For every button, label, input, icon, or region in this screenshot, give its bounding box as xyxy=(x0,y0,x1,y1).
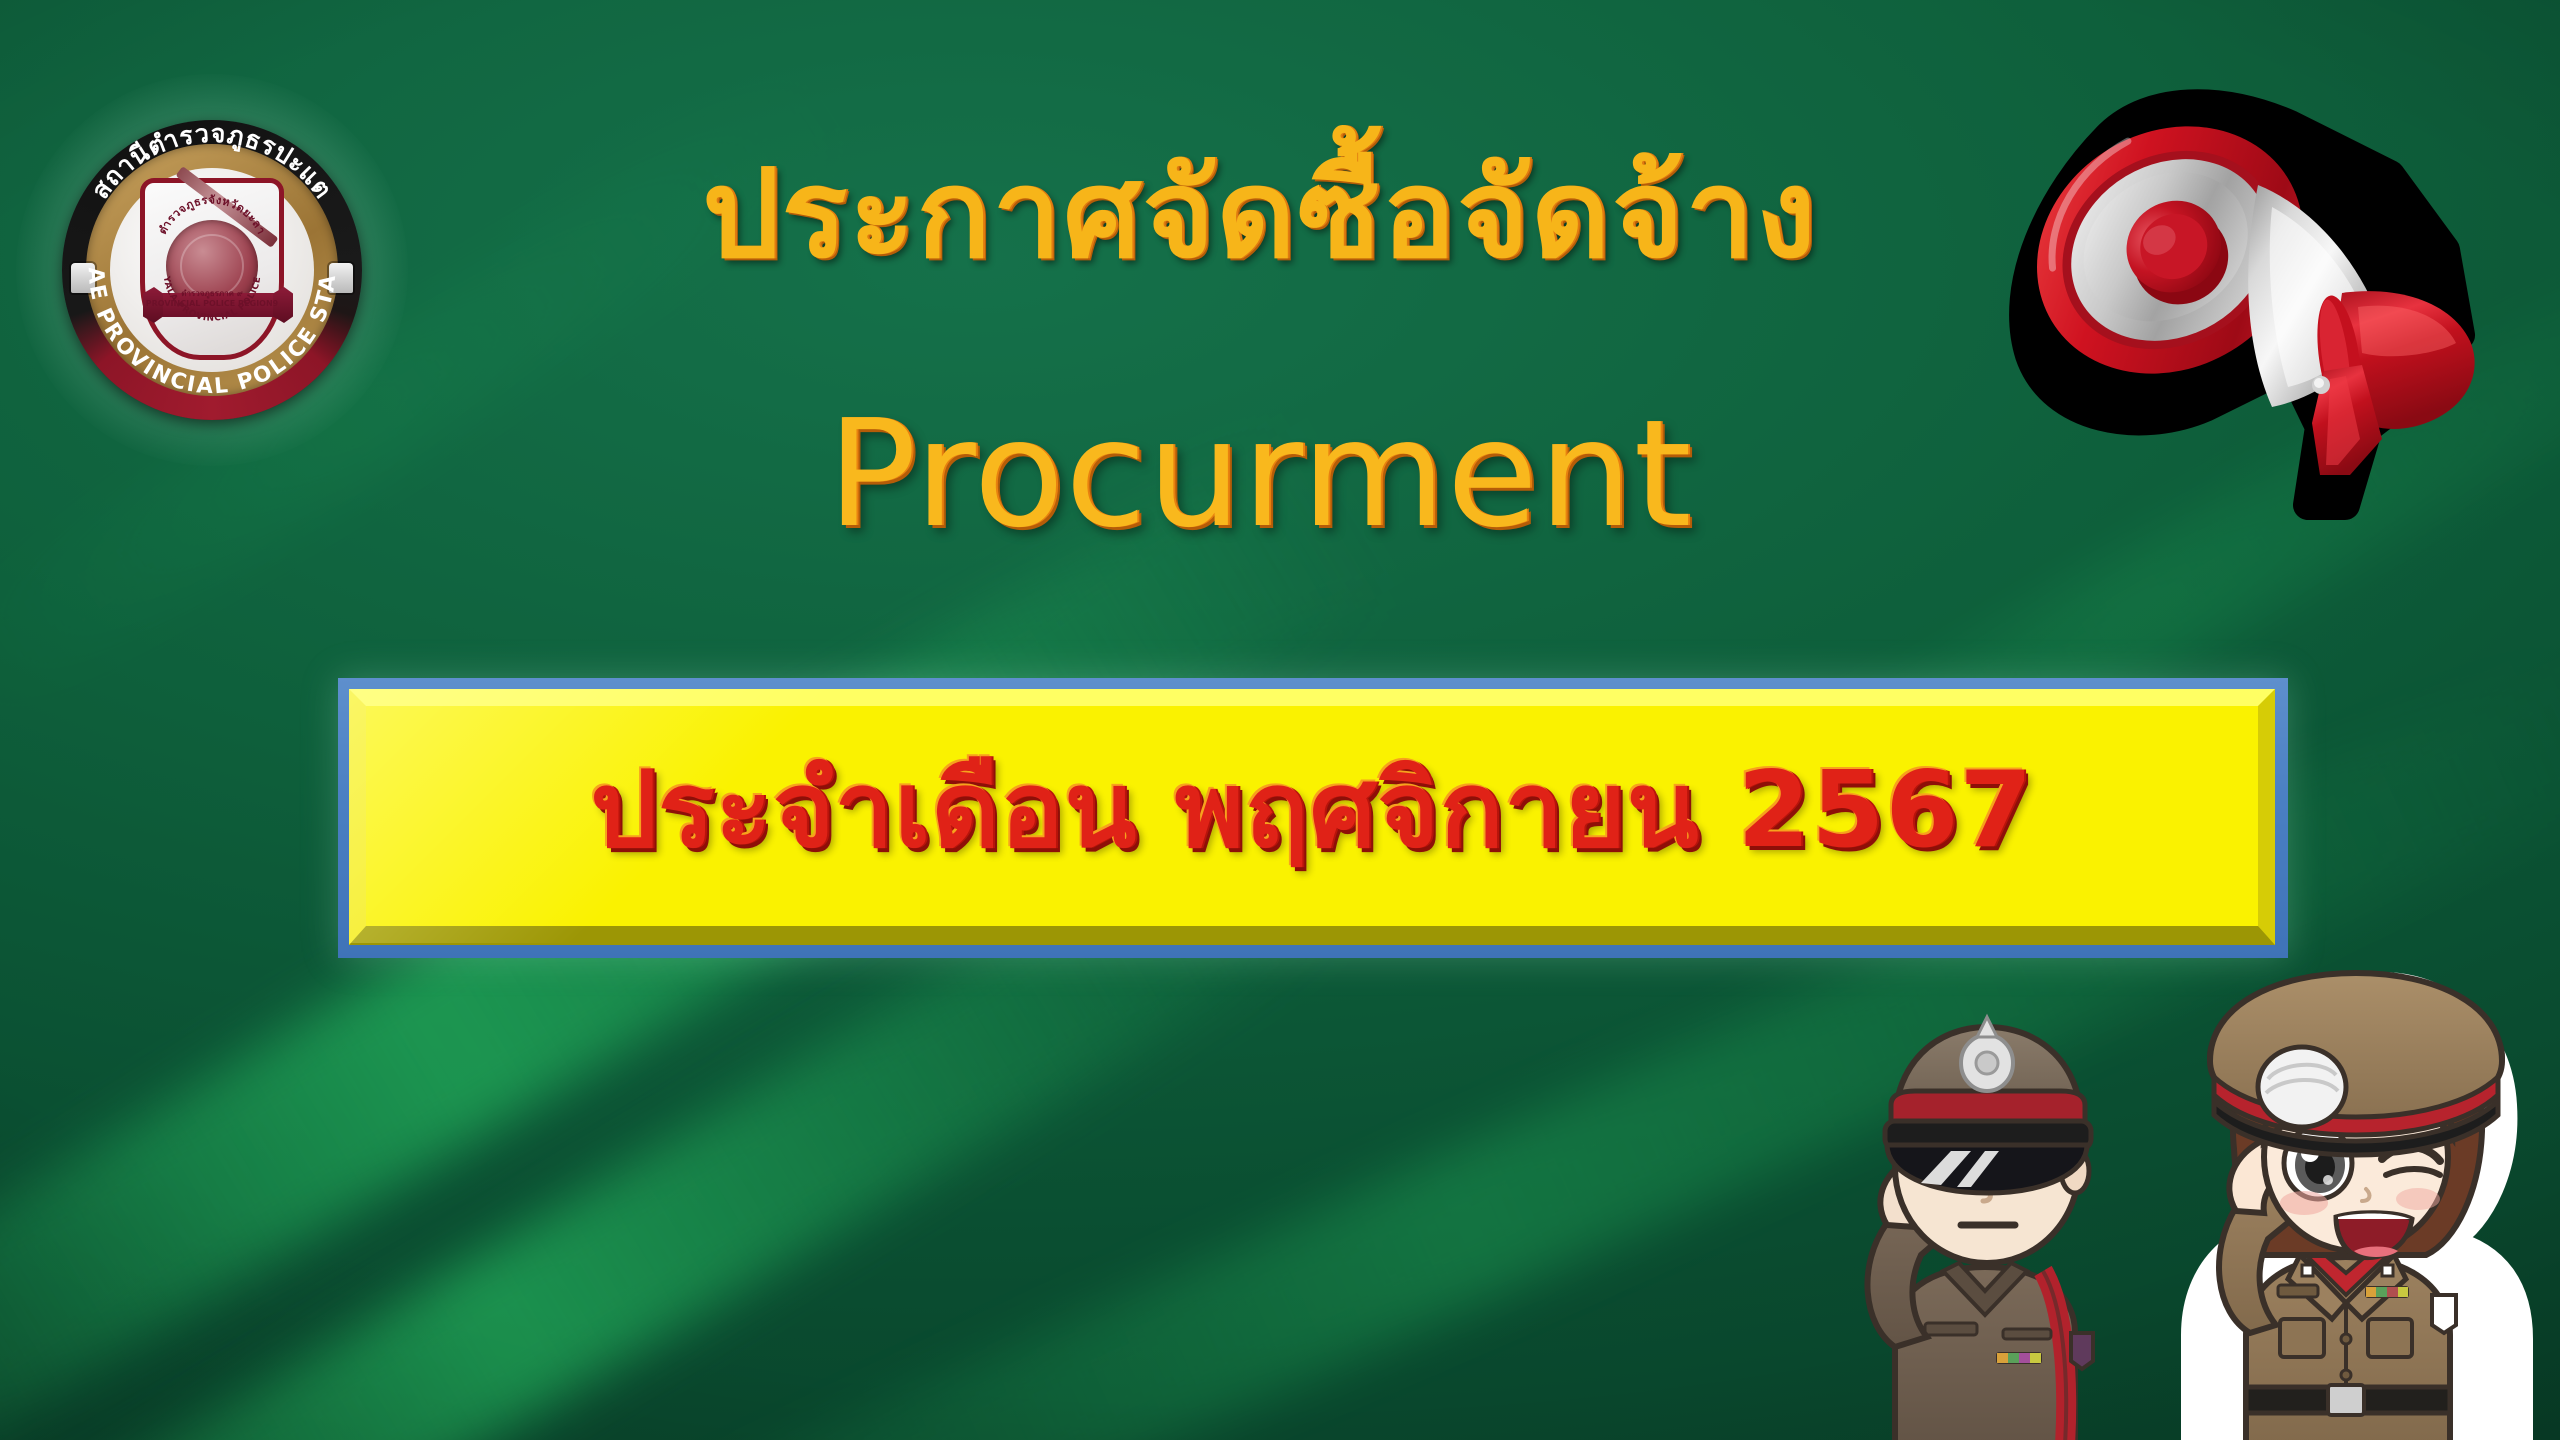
month-banner: ประจำเดือน พฤศจิกายน 2567 xyxy=(338,678,2288,958)
headline-english: Procurment xyxy=(520,400,2000,548)
headline-thai: ประกาศจัดซื้อจัดจ้าง xyxy=(520,150,2000,278)
logo-arc-bottom: PA TAE PROVINCIAL POLICE STATION xyxy=(62,120,362,420)
month-banner-inner: ประจำเดือน พฤศจิกายน 2567 xyxy=(349,689,2275,945)
female-police-officer-saluting-mascot xyxy=(2150,935,2560,1440)
logo-arc-bottom-text: PA TAE PROVINCIAL POLICE STATION xyxy=(62,120,341,399)
announcement-poster: ตำรวจภูธรจังหวัดยะลา YALA PROVINCIAL POL… xyxy=(0,0,2560,1440)
police-station-seal-logo: ตำรวจภูธรจังหวัดยะลา YALA PROVINCIAL POL… xyxy=(62,120,362,420)
month-banner-text: ประจำเดือน พฤศจิกายน 2567 xyxy=(591,758,2034,863)
male-police-officer-saluting-mascot xyxy=(1775,955,2195,1440)
svg-text:PA TAE PROVINCIAL POLICE STATI: PA TAE PROVINCIAL POLICE STATION xyxy=(62,120,341,399)
megaphone-icon xyxy=(1990,35,2560,555)
